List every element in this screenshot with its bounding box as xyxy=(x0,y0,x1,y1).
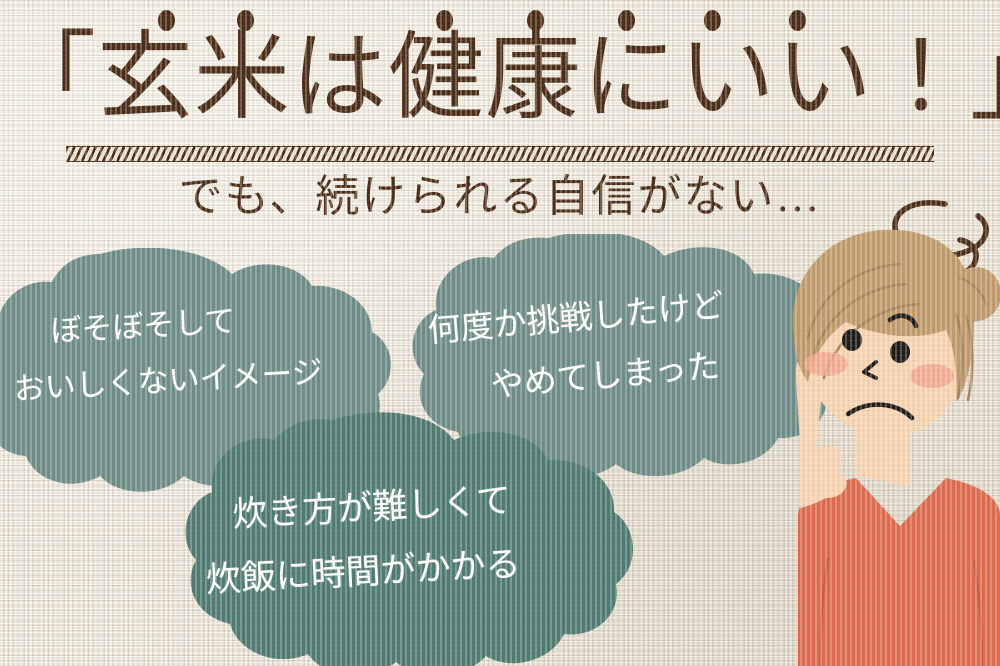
hatched-divider xyxy=(66,146,934,162)
hair-bun xyxy=(951,267,1000,321)
eye-left xyxy=(842,329,862,351)
eye-right xyxy=(890,341,910,363)
character-illustration xyxy=(760,186,1000,666)
blush-left xyxy=(804,352,848,376)
bubble-cooking-text: 炊き方が難しくて 炊飯に時間がかかる xyxy=(231,469,522,612)
poster-canvas: 「玄米は健康にいい！」 でも、続けられる自信がない… ぼそぼそして おいしくない… xyxy=(0,0,1000,666)
shirt xyxy=(798,478,1000,666)
page-title: 「玄米は健康にいい！」 xyxy=(0,26,1000,130)
bubble-texture-text: ぼそぼそして おいしくないイメージ xyxy=(49,289,324,416)
blush-right xyxy=(910,364,954,388)
